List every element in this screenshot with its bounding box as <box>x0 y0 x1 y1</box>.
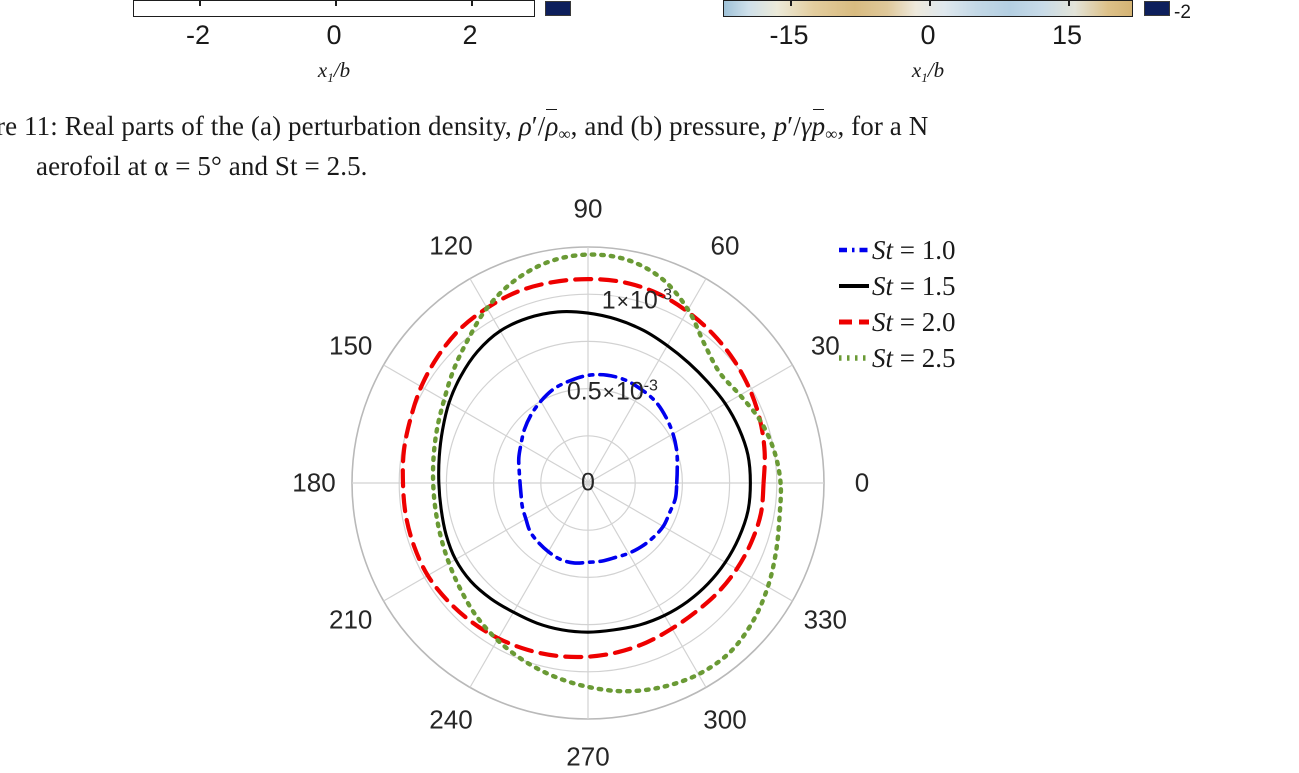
angular-tick-label-300: 300 <box>703 705 746 736</box>
angular-tick-label-30: 30 <box>811 331 840 362</box>
legend-entry-4[interactable]: St = 2.5 <box>838 340 1078 376</box>
caption-text-2: , and (b) pressure, <box>571 111 767 141</box>
pressure-tick-label-0: -15 <box>769 20 808 51</box>
legend-line-swatch-icon <box>838 239 872 261</box>
angular-tick-label-240: 240 <box>429 705 472 736</box>
pressure-tick-label-1: 0 <box>920 20 935 51</box>
density-tick-label-1: 0 <box>326 20 341 51</box>
caption-text-3: , for a N <box>837 111 928 141</box>
polar-directivity-plot: 030609012015018021024027030033000.5×10-3… <box>330 225 850 745</box>
pressure-colorbar-ticks <box>724 1 1132 18</box>
angular-tick-label-60: 60 <box>711 230 740 261</box>
angular-tick-label-0: 0 <box>855 468 869 499</box>
pressure-colorbar <box>723 0 1133 17</box>
pressure-axis-title: x1/b <box>912 58 944 86</box>
angular-tick-label-210: 210 <box>329 605 372 636</box>
pressure-colorbar-overflow-label: -2 <box>1174 2 1191 24</box>
angular-tick-label-90: 90 <box>574 194 603 225</box>
angular-tick-label-270: 270 <box>566 742 609 773</box>
legend-label: St = 2.0 <box>872 307 956 338</box>
legend-entry-3[interactable]: St = 2.0 <box>838 304 1078 340</box>
angular-tick-label-180: 180 <box>292 468 335 499</box>
density-axis-title: x1/b <box>318 58 350 86</box>
caption-text-1: Real parts of the (a) perturbation densi… <box>65 111 512 141</box>
pressure-axis-title-den: /b <box>928 58 944 82</box>
legend-line-swatch-icon <box>838 311 872 333</box>
angular-tick-label-150: 150 <box>329 331 372 362</box>
legend-entry-1[interactable]: St = 1.0 <box>838 232 1078 268</box>
radial-tick-label-1: 0.5×10-3 <box>567 377 658 406</box>
legend-label: St = 2.5 <box>872 343 956 374</box>
legend-line-swatch-icon <box>838 347 872 369</box>
legend-line-swatch-icon <box>838 275 872 297</box>
pressure-colorbar-overflow-swatch <box>1144 1 1170 16</box>
angular-tick-label-120: 120 <box>429 230 472 261</box>
density-colorbar-ticks <box>134 1 534 18</box>
figure-caption-line-2: aerofoil at α = 5° and St = 2.5. <box>36 146 368 186</box>
radial-tick-label-0: 0 <box>581 469 595 498</box>
pressure-tick-label-2: 15 <box>1052 20 1082 51</box>
polar-plot-labels: 030609012015018021024027030033000.5×10-3… <box>330 225 850 745</box>
legend-label: St = 1.5 <box>872 271 956 302</box>
density-colorbar-overflow-swatch <box>545 1 571 16</box>
pressure-axis-title-x: x <box>912 58 921 82</box>
caption-math-density: ρ′/ρ∞ <box>519 111 571 141</box>
density-colorbar <box>133 0 535 17</box>
colorbar-pressure-group: -2 -15 0 15 x1/b <box>649 0 1299 95</box>
radial-tick-label-2: 1×10-3 <box>602 286 672 315</box>
colorbar-density-group: -2 0 2 x1/b <box>0 0 649 95</box>
angular-tick-label-330: 330 <box>804 605 847 636</box>
density-axis-title-x: x <box>318 58 327 82</box>
legend-entry-2[interactable]: St = 1.5 <box>838 268 1078 304</box>
density-axis-title-den: /b <box>334 58 350 82</box>
density-tick-label-2: 2 <box>462 20 477 51</box>
caption-math-pressure: p′/γp∞ <box>774 111 838 141</box>
caption-label: re 11: <box>0 111 58 141</box>
density-tick-label-0: -2 <box>186 20 210 51</box>
legend-label: St = 1.0 <box>872 235 956 266</box>
legend: St = 1.0St = 1.5St = 2.0St = 2.5 <box>838 232 1078 376</box>
